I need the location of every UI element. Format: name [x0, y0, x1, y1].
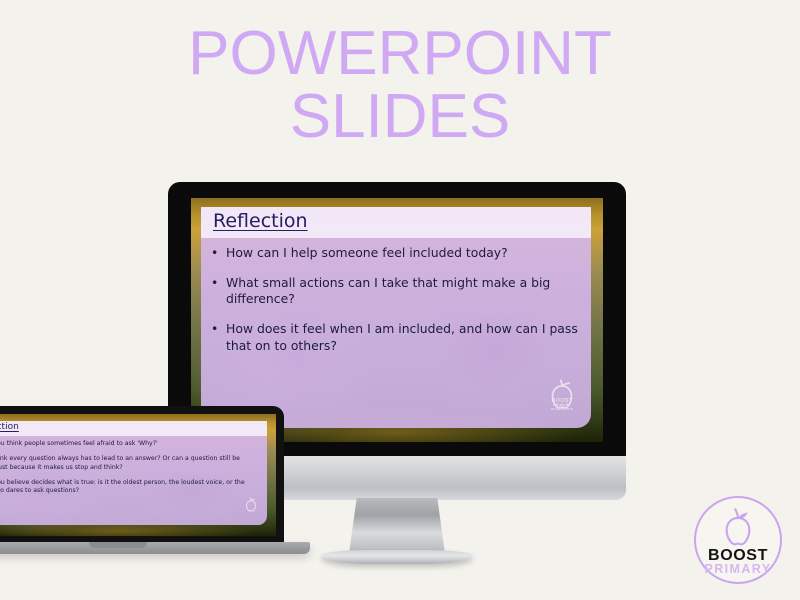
list-item: • Who do you believe decides what is tru…	[0, 479, 263, 496]
boost-primary-logo: BOOST PRIMARY	[694, 496, 782, 584]
monitor-stand-neck	[349, 498, 445, 554]
list-item-text: Why do you think people sometimes feel a…	[0, 440, 263, 448]
list-item: • How can I help someone feel included t…	[211, 245, 581, 262]
list-item: • How does it feel when I am included, a…	[211, 321, 581, 354]
list-item: • Why do you think people sometimes feel…	[0, 440, 263, 448]
list-item: • Do you think every question always has…	[0, 455, 263, 472]
monitor-slide-bullets: • How can I help someone feel included t…	[211, 245, 581, 368]
list-item-text: How can I help someone feel included tod…	[226, 245, 581, 262]
bullet-marker-icon: •	[211, 275, 226, 290]
logo-primary-text: PRIMARY	[696, 562, 780, 576]
monitor-slide-overlay: Reflection • How can I help someone feel…	[201, 207, 591, 428]
list-item-text: Who do you believe decides what is true:…	[0, 479, 263, 496]
list-item-text: Do you think every question always has t…	[0, 455, 263, 472]
monitor-stand-base	[321, 550, 473, 564]
slide-watermark: BOOST PRIMARY RESOURCES	[547, 378, 577, 410]
list-item-text: What small actions can I take that might…	[226, 275, 581, 308]
apple-icon	[717, 507, 759, 547]
laptop: Reflection • Why do you think people som…	[0, 406, 284, 566]
laptop-slide-overlay: Reflection • Why do you think people som…	[0, 421, 267, 525]
laptop-slide-title: Reflection	[0, 422, 19, 432]
page-title-line-1: POWERPOINT	[188, 19, 612, 88]
bullet-marker-icon: •	[211, 245, 226, 260]
laptop-slide-title-band	[0, 421, 267, 436]
list-item: • What small actions can I take that mig…	[211, 275, 581, 308]
monitor-slide-title: Reflection	[213, 210, 308, 232]
laptop-slide-bullets: • Why do you think people sometimes feel…	[0, 440, 263, 503]
page-title: POWERPOINT SLIDES	[0, 22, 800, 148]
slide-watermark	[244, 497, 258, 512]
laptop-bezel: Reflection • Why do you think people som…	[0, 406, 284, 544]
bullet-marker-icon: •	[211, 321, 226, 336]
laptop-base-notch	[89, 542, 147, 548]
laptop-screen: Reflection • Why do you think people som…	[0, 414, 276, 536]
laptop-base	[0, 542, 310, 554]
watermark-line-3: RESOURCES	[547, 407, 577, 411]
page-title-line-2: SLIDES	[0, 85, 800, 148]
list-item-text: How does it feel when I am included, and…	[226, 321, 581, 354]
